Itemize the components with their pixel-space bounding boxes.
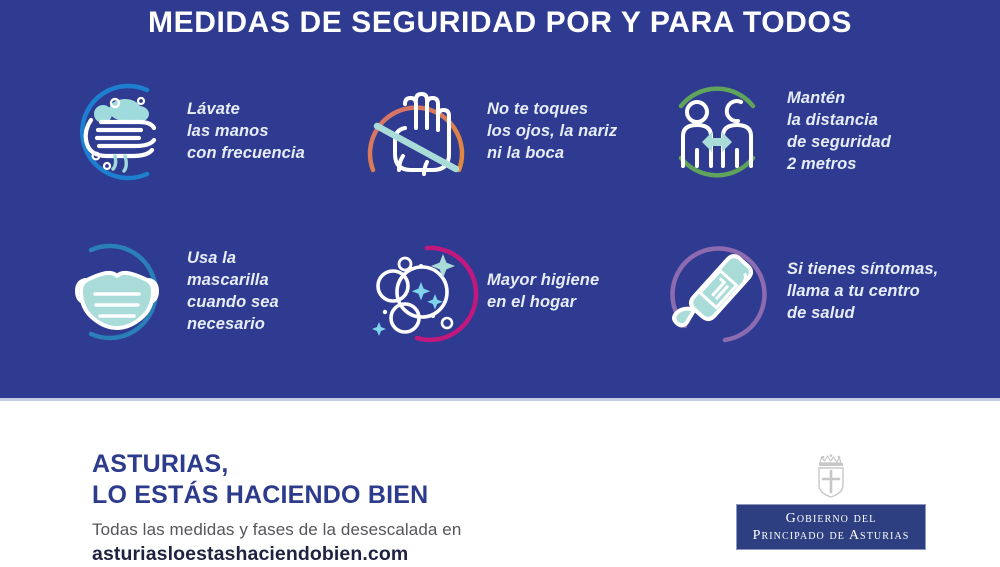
tip-line: los ojos, la nariz [487, 121, 655, 143]
tip-label: No te toques los ojos, la nariz ni la bo… [487, 99, 655, 164]
social-distance-two-people-icon [655, 70, 779, 194]
washing-hands-icon [55, 70, 179, 194]
tip-line: en el hogar [487, 292, 655, 314]
tip-line: las manos [187, 121, 355, 143]
campaign-claim: ASTURIAS, LO ESTÁS HACIENDO BIEN [92, 449, 612, 511]
face-mask-icon [55, 230, 179, 354]
tip-line: llama a tu centro [787, 281, 955, 303]
no-touch-face-hand-icon [355, 70, 479, 194]
tip-line: 2 metros [787, 154, 955, 176]
tip-line: No te toques [487, 99, 655, 121]
tip-use-mask: Usa la mascarilla cuando sea necesario [55, 222, 355, 362]
tip-line: Mayor higiene [487, 270, 655, 292]
tip-label: Lávate las manos con frecuencia [187, 99, 355, 164]
thermometer-icon [655, 230, 779, 354]
tip-line: de seguridad [787, 132, 955, 154]
tip-line: mascarilla [187, 270, 355, 292]
tip-home-hygiene: Mayor higiene en el hogar [355, 222, 655, 362]
footer-text-block: ASTURIAS, LO ESTÁS HACIENDO BIEN Todas l… [92, 449, 612, 566]
claim-line-1: ASTURIAS, [92, 449, 612, 480]
claim-line-2: LO ESTÁS HACIENDO BIEN [92, 480, 612, 511]
tip-line: ni la boca [487, 143, 655, 165]
tip-no-touch-face: No te toques los ojos, la nariz ni la bo… [355, 62, 655, 202]
tip-wash-hands: Lávate las manos con frecuencia [55, 62, 355, 202]
soap-bubbles-sparkles-icon [355, 230, 479, 354]
campaign-website-link[interactable]: asturiasloestashaciendobien.com [92, 543, 612, 566]
tip-label: Mayor higiene en el hogar [487, 270, 655, 314]
tip-line: Si tienes síntomas, [787, 259, 955, 281]
tip-line: Mantén [787, 88, 955, 110]
tip-line: la distancia [787, 110, 955, 132]
tip-call-health-center: Si tienes síntomas, llama a tu centro de… [655, 222, 955, 362]
asturias-coat-of-arms-icon [812, 452, 850, 498]
page-title: MEDIDAS DE SEGURIDAD POR Y PARA TODOS [0, 6, 1000, 40]
gov-plate-line-1: Gobierno del [786, 510, 877, 527]
government-logo: Gobierno del Principado de Asturias [736, 452, 926, 556]
tip-keep-distance: Mantén la distancia de seguridad 2 metro… [655, 62, 955, 202]
tip-line: cuando sea [187, 292, 355, 314]
tip-label: Si tienes síntomas, llama a tu centro de… [787, 259, 955, 324]
tip-line: Lávate [187, 99, 355, 121]
tip-label: Usa la mascarilla cuando sea necesario [187, 248, 355, 335]
tip-line: con frecuencia [187, 143, 355, 165]
tip-line: necesario [187, 314, 355, 336]
safety-measures-grid: Lávate las manos con frecuencia [55, 62, 955, 362]
tip-label: Mantén la distancia de seguridad 2 metro… [787, 88, 955, 175]
gov-plate-line-2: Principado de Asturias [753, 527, 910, 544]
infographic-poster: MEDIDAS DE SEGURIDAD POR Y PARA TODOS [0, 0, 1000, 567]
tip-line: Usa la [187, 248, 355, 270]
government-name-plate: Gobierno del Principado de Asturias [736, 504, 926, 550]
tip-line: de salud [787, 303, 955, 325]
footer-subtitle: Todas las medidas y fases de la desescal… [92, 520, 612, 540]
